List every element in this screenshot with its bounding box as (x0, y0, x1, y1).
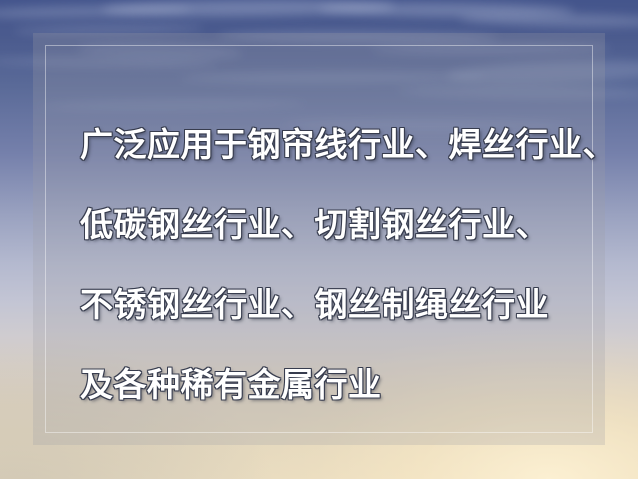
body-text-line: 不锈钢丝行业、钢丝制绳丝行业 (80, 285, 638, 325)
body-text-line: 广泛应用于钢帘线行业、焊丝行业、 (80, 125, 638, 165)
content-panel: 广泛应用于钢帘线行业、焊丝行业、 低碳钢丝行业、切割钢丝行业、 不锈钢丝行业、钢… (33, 33, 605, 445)
presentation-slide: 广泛应用于钢帘线行业、焊丝行业、 低碳钢丝行业、切割钢丝行业、 不锈钢丝行业、钢… (0, 0, 638, 479)
body-text-line: 低碳钢丝行业、切割钢丝行业、 (80, 205, 638, 245)
body-text-block: 广泛应用于钢帘线行业、焊丝行业、 低碳钢丝行业、切割钢丝行业、 不锈钢丝行业、钢… (80, 125, 638, 405)
body-text-line: 及各种稀有金属行业 (80, 365, 638, 405)
